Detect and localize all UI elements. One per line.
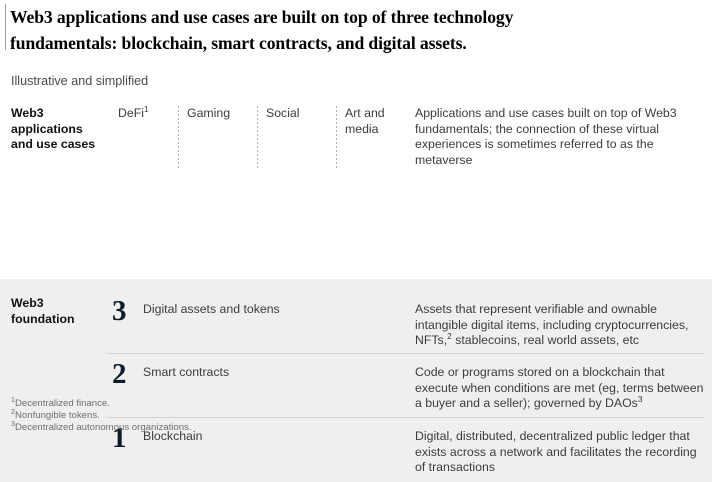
foundation-name-3: Digital assets and tokens — [143, 302, 403, 318]
table-row-applications: Web3 applications and use cases DeFi1 Ga… — [0, 104, 716, 175]
column-divider-3 — [336, 104, 337, 168]
category-defi: DeFi1 — [118, 106, 178, 122]
category-gaming-label: Gaming — [187, 106, 230, 120]
applications-description: Applications and use cases built on top … — [415, 106, 707, 169]
category-art-and-media: Art and media — [345, 106, 403, 137]
title-line-2: fundamentals: blockchain, smart contract… — [10, 30, 700, 56]
category-defi-footnote-marker: 1 — [144, 104, 149, 114]
category-gaming: Gaming — [187, 106, 247, 122]
row-divider — [107, 353, 705, 354]
footnote-1-text: Decentralized finance. — [15, 398, 110, 409]
foundation-rows: 3 Digital assets and tokens Assets that … — [0, 279, 712, 482]
row-label-applications-line-3: and use cases — [11, 137, 107, 153]
foundation-description-1-part-1: Digital, distributed, decentralized publ… — [415, 429, 697, 474]
footnote-2-text: Nonfungible tokens. — [15, 410, 100, 421]
foundation-row-3: 3 Digital assets and tokens Assets that … — [0, 290, 712, 353]
category-social: Social — [266, 106, 326, 122]
category-social-label: Social — [266, 106, 300, 120]
row-label-applications: Web3 applications and use cases — [11, 106, 107, 153]
column-divider-1 — [178, 104, 179, 168]
subtitle: Illustrative and simplified — [11, 73, 148, 89]
row-label-applications-line-2: applications — [11, 122, 107, 138]
footnote-3: 3Decentralized autonomous organizations. — [11, 422, 511, 434]
foundation-description-3: Assets that represent verifiable and own… — [415, 302, 707, 349]
footnote-2: 2Nonfungible tokens. — [11, 410, 511, 422]
column-divider-2 — [257, 104, 258, 168]
foundation-description-3-part-2: stablecoins, real world assets, etc — [452, 333, 639, 347]
footnote-3-text: Decentralized autonomous organizations. — [15, 422, 192, 433]
footnote-1: 1Decentralized finance. — [11, 398, 511, 410]
application-categories: DeFi1 Gaming Social Art and media — [118, 104, 412, 175]
title-line-1: Web3 applications and use cases are buil… — [10, 4, 700, 30]
foundation-number-3: 3 — [112, 295, 140, 327]
table-section-foundation: Web3 foundation 3 Digital assets and tok… — [0, 279, 712, 482]
category-art-and-media-label: Art and media — [345, 106, 385, 136]
category-defi-label: DeFi — [118, 106, 144, 120]
page-title: Web3 applications and use cases are buil… — [0, 4, 700, 56]
footnotes: 1Decentralized finance. 2Nonfungible tok… — [11, 398, 511, 435]
exhibit-table: Web3 applications and use cases DeFi1 Ga… — [0, 104, 716, 175]
foundation-name-2: Smart contracts — [143, 365, 403, 381]
foundation-description-2-footnote-marker: 3 — [638, 394, 643, 404]
foundation-description-1: Digital, distributed, decentralized publ… — [415, 429, 707, 476]
exhibit-container: Web3 applications and use cases are buil… — [0, 0, 716, 439]
foundation-number-2: 2 — [112, 358, 140, 390]
row-label-applications-line-1: Web3 — [11, 106, 107, 122]
